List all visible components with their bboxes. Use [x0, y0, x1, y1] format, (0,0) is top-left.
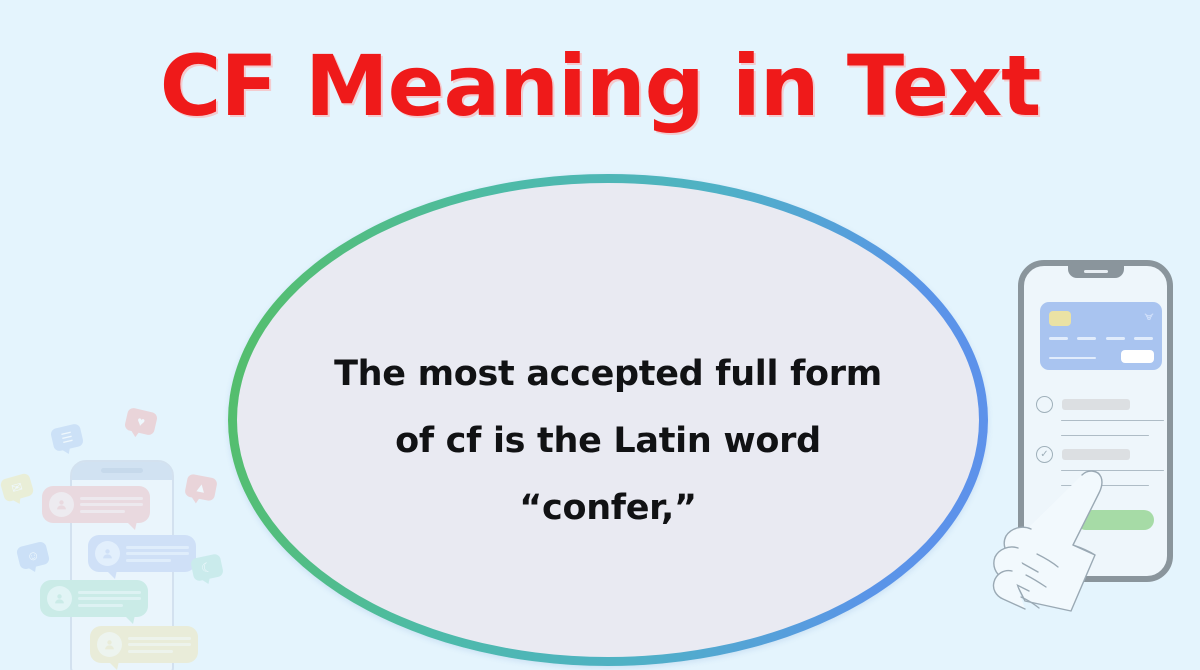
ellipse-text-line-1: The most accepted full form — [278, 341, 938, 408]
chat-bubble-lines — [80, 493, 143, 516]
bubble-tail — [108, 661, 119, 670]
pointing-hand — [990, 442, 1200, 670]
bubble-tail — [106, 570, 117, 579]
bubble-tail — [124, 615, 135, 624]
card-number-groups — [1049, 337, 1153, 340]
person-icon — [95, 541, 120, 566]
bell-icon: ▲ — [184, 473, 218, 501]
ellipse-text-line-3: “confer,” — [278, 476, 938, 543]
chat-phone-illustration: ✉ ☰ ♥ ☺ ▲ ☾ — [0, 398, 240, 670]
phone-notch — [1068, 265, 1124, 278]
ellipse-text-block: The most accepted full form of cf is the… — [278, 341, 938, 543]
chat-bubble-blue — [88, 535, 196, 572]
chat-bubble-red — [42, 486, 150, 523]
chat-bubble-green — [40, 580, 148, 617]
heart-icon: ♥ — [124, 407, 158, 436]
card-chip-icon — [1049, 311, 1071, 326]
credit-card — [1040, 302, 1162, 370]
wifi-wave-icon — [1141, 311, 1155, 323]
chat-bubble-lines — [128, 633, 191, 656]
list-row-label — [1062, 399, 1130, 410]
chat-lines-icon: ☰ — [50, 423, 84, 452]
poster-canvas: CF Meaning in Text — [0, 0, 1200, 670]
list-row-line — [1061, 435, 1149, 436]
chat-bubble-yellow — [90, 626, 198, 663]
bubble-tail — [126, 521, 137, 530]
central-ellipse: The most accepted full form of cf is the… — [228, 174, 988, 666]
person-icon — [49, 492, 74, 517]
chat-bubble-lines — [126, 542, 189, 565]
card-holder-line — [1049, 357, 1096, 360]
moon-icon: ☾ — [190, 553, 224, 582]
card-brand-badge — [1121, 350, 1154, 363]
ellipse-text-line-2: of cf is the Latin word — [278, 408, 938, 475]
list-row-line — [1061, 420, 1164, 421]
chat-bubble-lines — [78, 587, 141, 610]
person-icon — [47, 586, 72, 611]
person-icon — [97, 632, 122, 657]
payment-phone-illustration: ✓ — [1000, 252, 1200, 670]
smiley-icon: ☺ — [16, 541, 51, 571]
circle-icon[interactable] — [1036, 396, 1053, 413]
page-title: CF Meaning in Text — [0, 44, 1200, 128]
envelope-icon: ✉ — [0, 472, 35, 502]
left-phone-speaker — [101, 468, 143, 473]
